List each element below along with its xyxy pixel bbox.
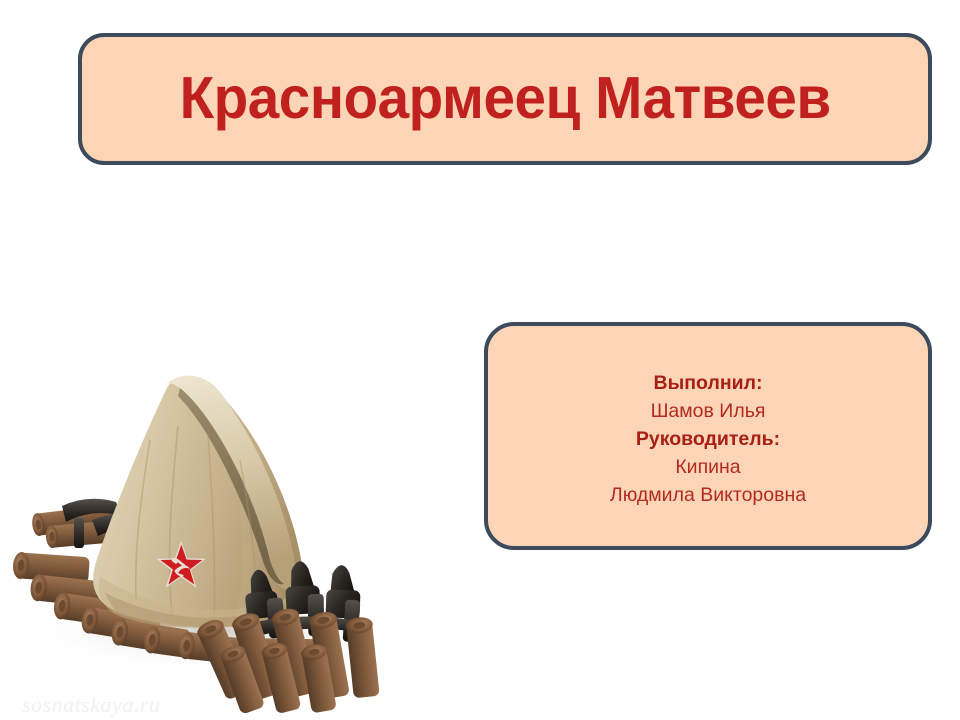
- photo-watermark: sosnatskaya.ru: [22, 692, 160, 718]
- cap-and-ammunition-photo: sosnatskaya.ru: [0, 330, 500, 720]
- credits-value-author: Шамов Илья: [651, 397, 766, 425]
- title-box: Красноармеец Матвеев: [78, 33, 932, 165]
- credits-label-supervisor: Руководитель:: [636, 425, 780, 453]
- credits-box: Выполнил: Шамов Илья Руководитель: Кипин…: [484, 322, 932, 550]
- credits-value-supervisor-surname: Кипина: [675, 453, 740, 481]
- slide-canvas: Красноармеец Матвеев: [0, 0, 960, 720]
- credits-value-supervisor-name: Людмила Викторовна: [610, 481, 806, 509]
- photo-artwork: [0, 330, 500, 720]
- page-title: Красноармеец Матвеев: [179, 68, 830, 130]
- credits-label-author: Выполнил:: [654, 369, 763, 397]
